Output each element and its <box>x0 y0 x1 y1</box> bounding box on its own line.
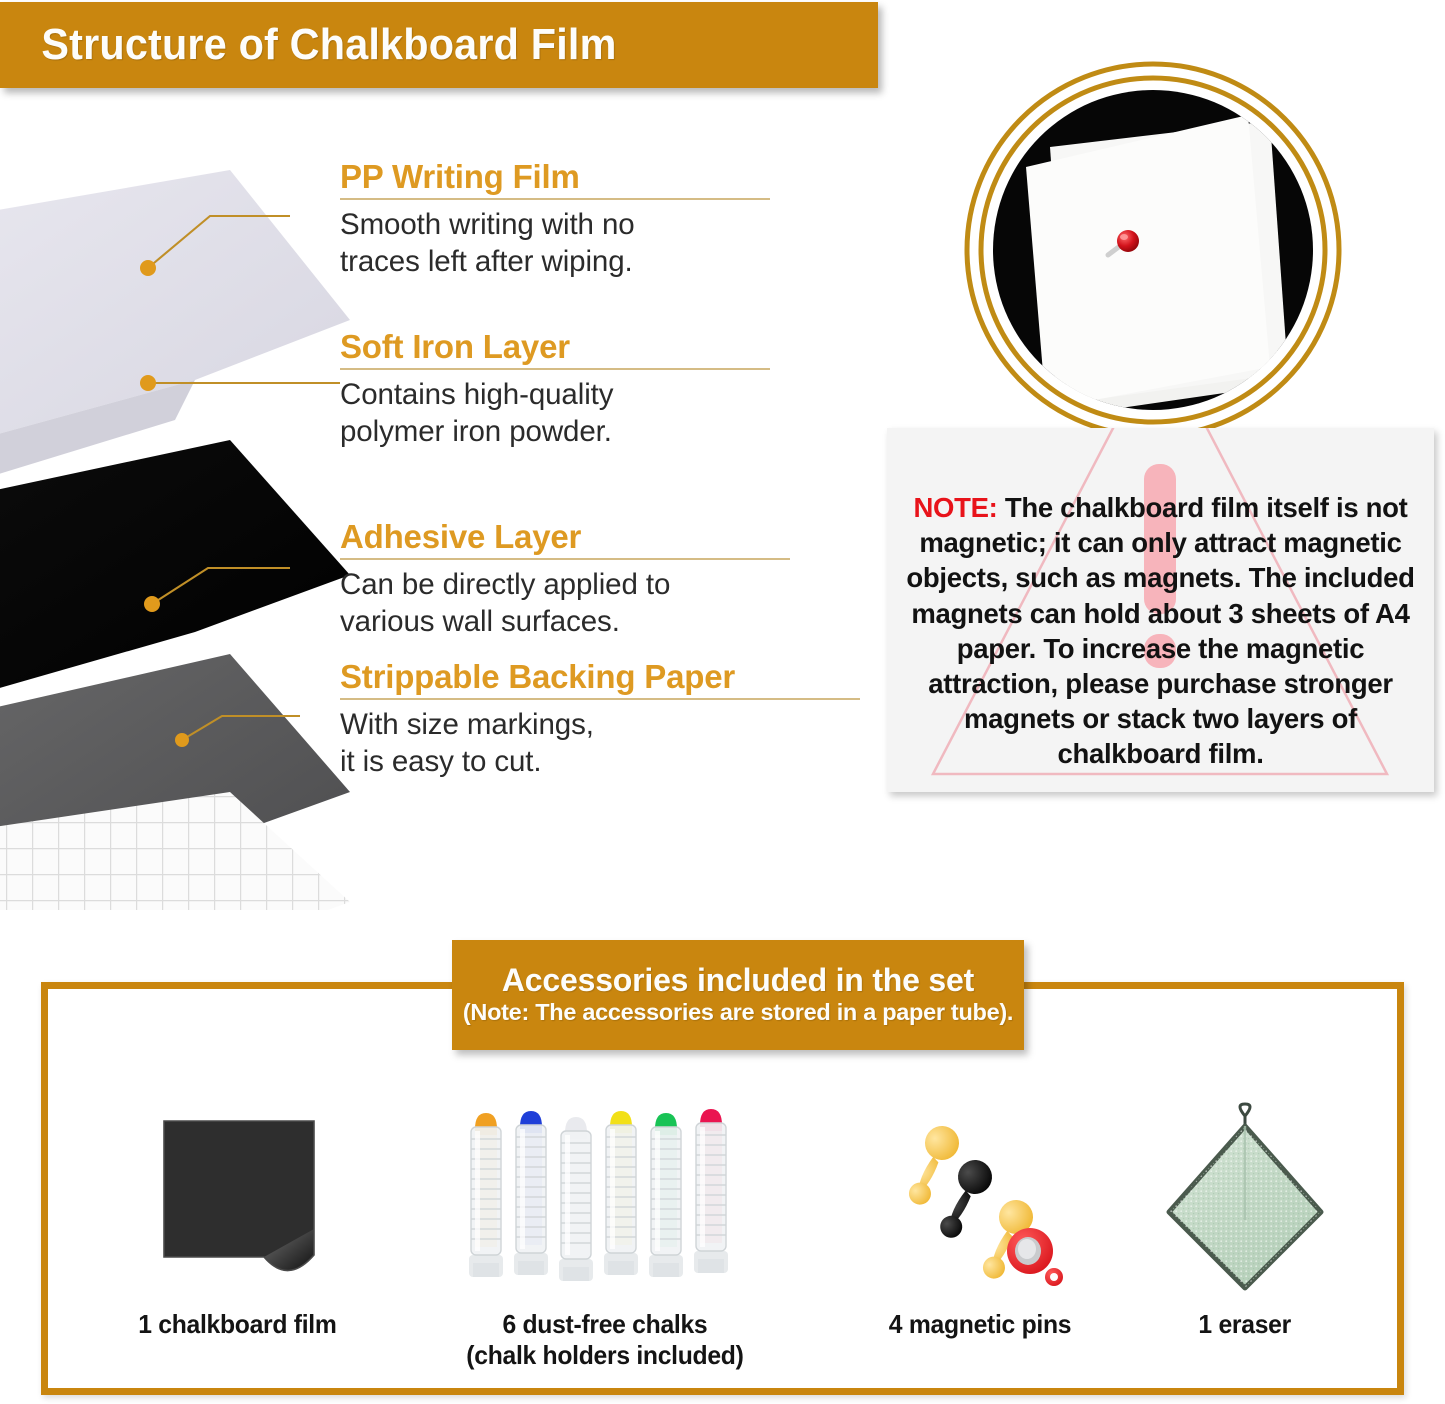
accessory-eraser: 1 eraser <box>1145 1095 1345 1340</box>
feature-rule <box>340 198 770 200</box>
red-magnetic-pin-icon <box>1117 230 1139 252</box>
accessories-banner: Accessories included in the set (Note: T… <box>452 940 1024 1050</box>
accessory-label: 4 magnetic pins <box>889 1309 1071 1340</box>
accessory-label: 1 eraser <box>1199 1309 1292 1340</box>
eraser-cloth-icon <box>1155 1095 1335 1295</box>
feature-pp-writing-film: PP Writing Film Smooth writing with no t… <box>340 160 770 280</box>
chalkboard-film-icon <box>138 1095 338 1295</box>
feature-soft-iron-layer: Soft Iron Layer Contains high-quality po… <box>340 330 770 450</box>
paper-sheet-front <box>1026 115 1270 409</box>
feature-heading: Strippable Backing Paper <box>340 660 860 698</box>
feature-rule <box>340 558 790 560</box>
accessory-chalks: 6 dust-free chalks (chalk holders includ… <box>455 1095 755 1370</box>
accessory-label: 1 chalkboard film <box>138 1309 336 1340</box>
chalk-holders-icon <box>463 1095 748 1295</box>
accessory-label: 6 dust-free chalks (chalk holders includ… <box>466 1309 743 1370</box>
feature-heading: Adhesive Layer <box>340 520 790 558</box>
note-text: NOTE: The chalkboard film itself is not … <box>887 428 1434 772</box>
magnetic-pins-icon <box>880 1095 1080 1295</box>
accessories-banner-line1: Accessories included in the set <box>502 964 974 997</box>
magnet-demo-photo <box>958 55 1348 445</box>
feature-rule <box>340 368 770 370</box>
note-body: The chalkboard film itself is not magnet… <box>906 492 1414 769</box>
accessory-magnetic-pins: 4 magnetic pins <box>865 1095 1095 1340</box>
accessory-chalkboard-film: 1 chalkboard film <box>110 1095 365 1340</box>
accessories-banner-line2: (Note: The accessories are stored in a p… <box>463 1000 1013 1026</box>
leader-lines <box>0 0 360 800</box>
feature-body: Contains high-quality polymer iron powde… <box>340 376 770 450</box>
feature-heading: PP Writing Film <box>340 160 770 198</box>
feature-adhesive-layer: Adhesive Layer Can be directly applied t… <box>340 520 790 640</box>
note-keyword: NOTE: <box>913 492 997 523</box>
feature-body: With size markings, it is easy to cut. <box>340 706 860 780</box>
feature-heading: Soft Iron Layer <box>340 330 770 368</box>
feature-body: Can be directly applied to various wall … <box>340 566 790 640</box>
feature-rule <box>340 698 860 700</box>
note-callout-box: NOTE: The chalkboard film itself is not … <box>887 428 1434 792</box>
feature-strippable-backing-paper: Strippable Backing Paper With size marki… <box>340 660 860 780</box>
feature-body: Smooth writing with no traces left after… <box>340 206 770 280</box>
infographic-root: Structure of Chalkboard Film <box>0 0 1445 1404</box>
